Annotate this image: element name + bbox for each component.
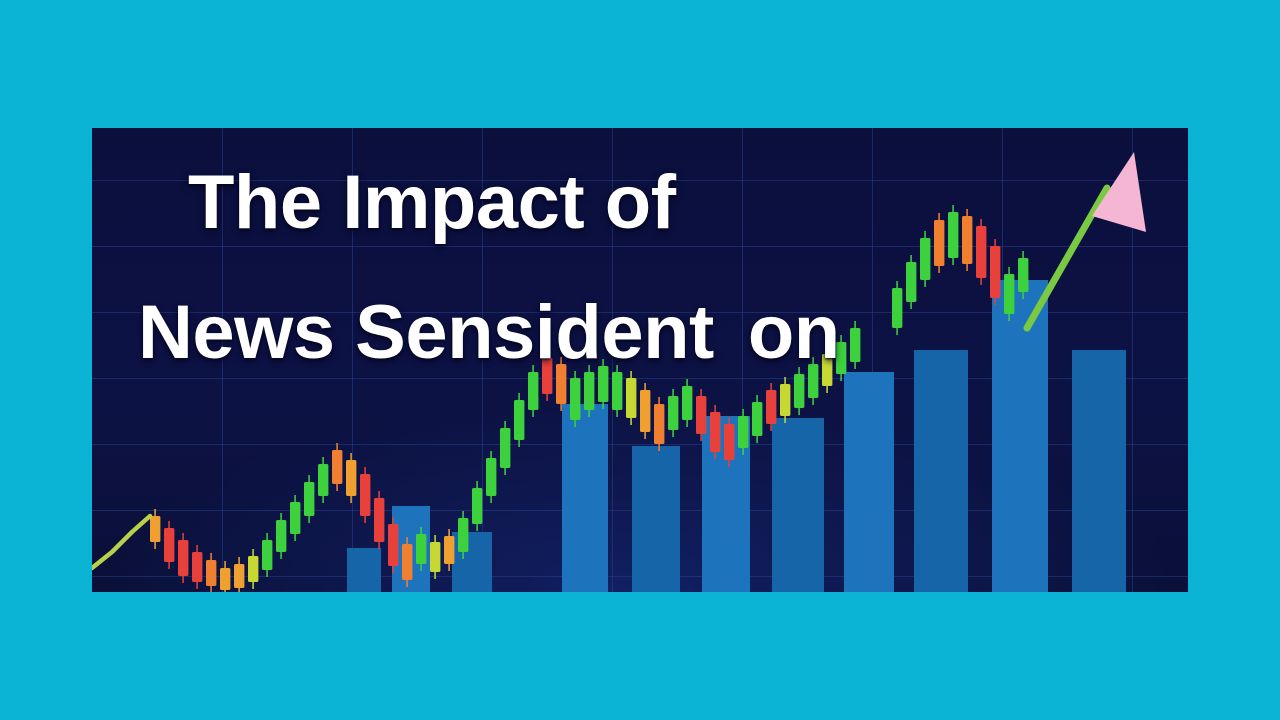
trend-arrow-shaft (1027, 188, 1107, 328)
chart-panel: The Impact of News Sensidenton (92, 128, 1188, 592)
poster-canvas: The Impact of News Sensidenton (0, 0, 1280, 720)
trend-arrow-head-icon (1092, 152, 1146, 232)
trend-arrow-layer (92, 128, 1188, 592)
leading-trend-line (92, 516, 150, 568)
